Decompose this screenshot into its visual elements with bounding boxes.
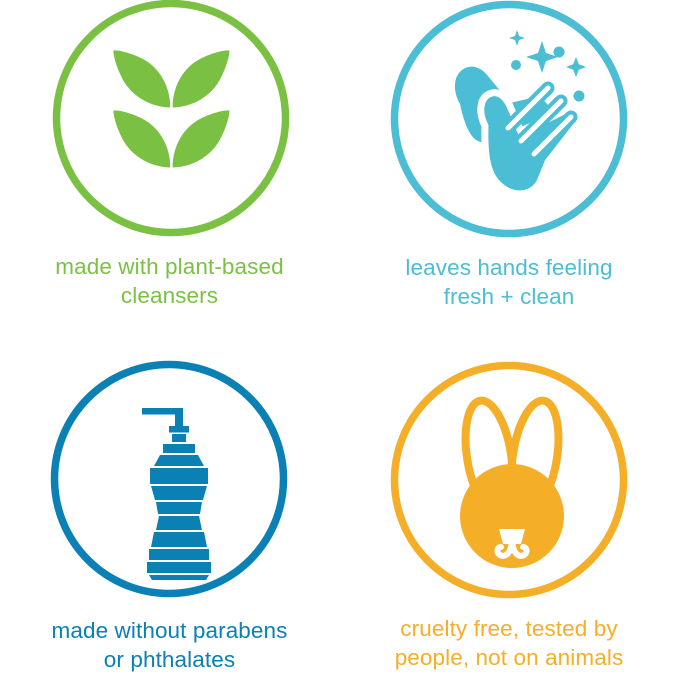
pump-bottle-glyph <box>142 408 211 580</box>
caption-line-1: cruelty free, tested by <box>349 615 669 644</box>
caption-line-2: cleansers <box>20 282 320 311</box>
caption-line-2: people, not on animals <box>349 644 669 673</box>
plant-leaves-glyph <box>113 50 229 167</box>
washing-hands-icon-circle <box>390 0 628 238</box>
badge-caption: cruelty free, tested by people, not on a… <box>349 615 669 673</box>
badge-caption: made with plant-based cleansers <box>20 253 320 311</box>
caption-line-1: made with plant-based <box>20 253 320 282</box>
caption-line-2: fresh + clean <box>359 283 659 312</box>
washing-hands-glyph <box>455 30 586 194</box>
rabbit-head-icon-circle <box>390 361 628 599</box>
caption-line-1: made without parabens <box>10 617 330 646</box>
caption-line-1: leaves hands feeling <box>359 254 659 283</box>
badge-caption: made without parabens or phthalates <box>10 617 330 675</box>
plant-leaves-icon-circle <box>52 0 290 237</box>
caption-line-2: or phthalates <box>10 646 330 675</box>
badge-no-parabens: made without parabens or phthalates <box>0 345 339 690</box>
badge-plant-based: made with plant-based cleansers <box>0 0 339 345</box>
badge-fresh-clean: leaves hands feeling fresh + clean <box>339 0 679 345</box>
circle-outline <box>56 4 285 233</box>
badge-cruelty-free: cruelty free, tested by people, not on a… <box>339 345 679 690</box>
rabbit-head-glyph <box>459 397 566 568</box>
badge-caption: leaves hands feeling fresh + clean <box>359 254 659 312</box>
pump-bottle-icon-circle <box>50 360 288 598</box>
benefit-badge-grid: made with plant-based cleansers <box>0 0 679 690</box>
